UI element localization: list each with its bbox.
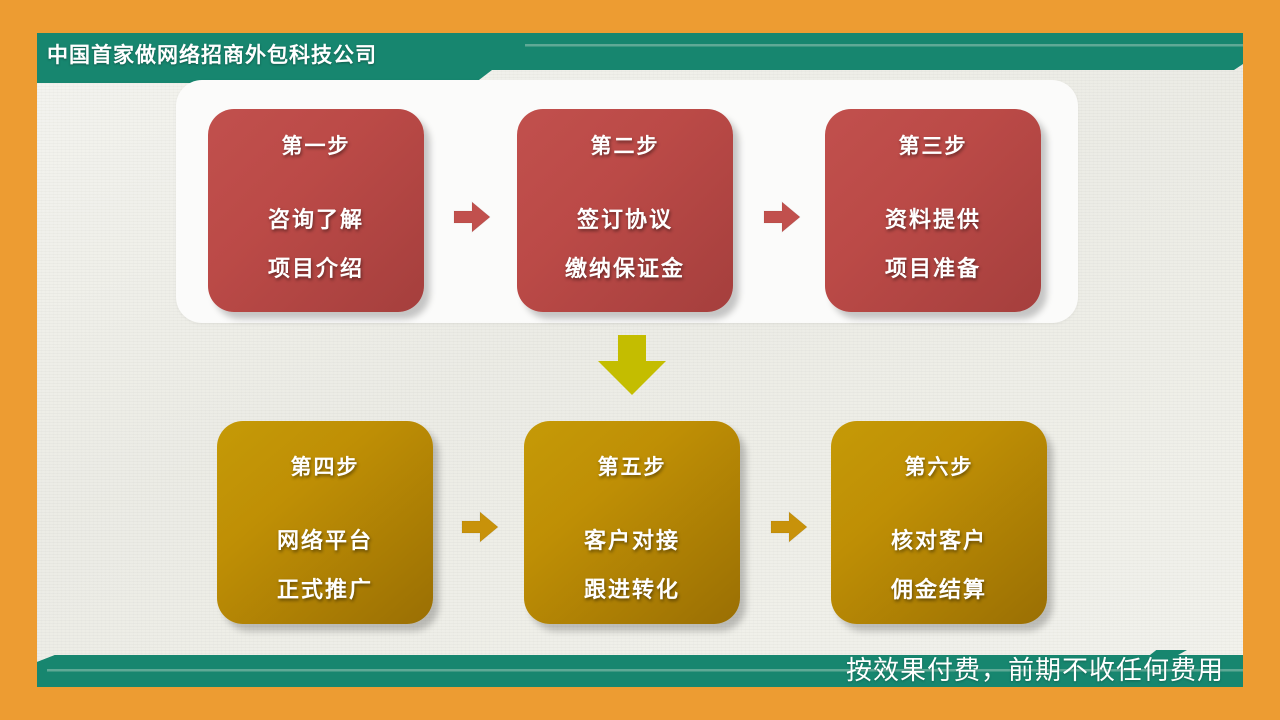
flow-step-card-6[interactable]: 第六步 核对客户 佣金结算 [831,421,1047,624]
flow-step-1-line2: 项目介绍 [268,251,364,283]
flow-step-4-label: 第四步 [291,451,360,481]
flow-step-5-line2: 跟进转化 [584,572,680,604]
flow-step-1-line1: 咨询了解 [268,202,364,234]
flow-step-6-label: 第六步 [905,451,974,481]
flow-step-2-line2: 缴纳保证金 [565,251,685,283]
flow-step-6-line1: 核对客户 [891,523,987,555]
flow-step-3-body: 资料提供 项目准备 [885,202,981,283]
flow-step-4-line1: 网络平台 [277,523,373,555]
arrow-right-icon-2 [762,200,802,234]
arrow-right-icon-1 [452,200,492,234]
flow-step-5-body: 客户对接 跟进转化 [584,523,680,604]
flow-step-4-line2: 正式推广 [277,572,373,604]
flow-step-4-body: 网络平台 正式推广 [277,523,373,604]
flow-step-1-body: 咨询了解 项目介绍 [268,202,364,283]
flow-step-3-line1: 资料提供 [885,202,981,234]
flow-step-1-label: 第一步 [282,130,351,160]
flow-step-2-body: 签订协议 缴纳保证金 [565,202,685,283]
flow-step-6-line2: 佣金结算 [891,572,987,604]
flow-step-card-2[interactable]: 第二步 签订协议 缴纳保证金 [517,109,733,312]
flow-step-3-label: 第三步 [899,130,968,160]
flow-step-card-1[interactable]: 第一步 咨询了解 项目介绍 [208,109,424,312]
header-band-highlight-line [525,44,1243,47]
flow-step-6-body: 核对客户 佣金结算 [891,523,987,604]
flow-step-card-4[interactable]: 第四步 网络平台 正式推广 [217,421,433,624]
slide-canvas: 中国首家做网络招商外包科技公司 第一步 咨询了解 项目介绍 第二步 签订协议 缴… [0,0,1280,720]
arrow-right-icon-4 [769,510,809,544]
flow-step-2-line1: 签订协议 [577,202,673,234]
arrow-down-icon [592,335,672,397]
flow-step-card-3[interactable]: 第三步 资料提供 项目准备 [825,109,1041,312]
flow-step-3-line2: 项目准备 [885,251,981,283]
flow-step-5-line1: 客户对接 [584,523,680,555]
flow-step-card-5[interactable]: 第五步 客户对接 跟进转化 [524,421,740,624]
footer-tagline: 按效果付费，前期不收任何费用 [846,650,1224,687]
page-title: 中国首家做网络招商外包科技公司 [47,39,377,69]
flow-step-5-label: 第五步 [598,451,667,481]
arrow-right-icon-3 [460,510,500,544]
flow-step-2-label: 第二步 [591,130,660,160]
